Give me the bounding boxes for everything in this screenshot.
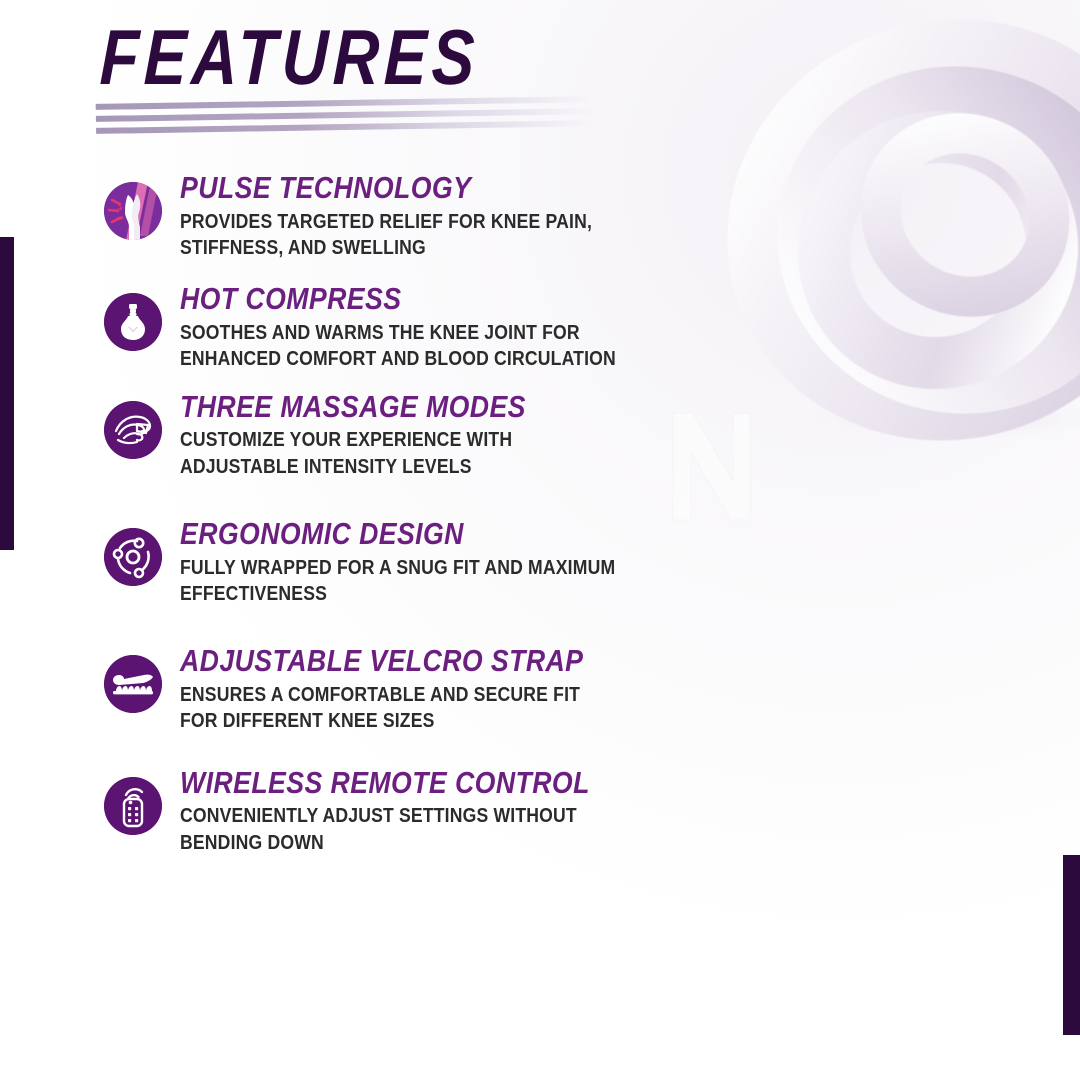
page-title: FEATURES	[99, 18, 560, 96]
feature-item: THREE MASSAGE MODES CUSTOMIZE YOUR EXPER…	[104, 389, 724, 480]
feature-list: PULSE TECHNOLOGY PROVIDES TARGETED RELIE…	[104, 170, 724, 856]
torus-decoration-graphic	[720, 10, 1080, 480]
feature-text: ERGONOMIC DESIGN FULLY WRAPPED FOR A SNU…	[180, 516, 724, 607]
feature-title: WIRELESS REMOTE CONTROL	[180, 767, 648, 800]
ergonomic-orbit-icon	[104, 528, 162, 586]
feature-title: PULSE TECHNOLOGY	[180, 172, 648, 205]
feature-description: SOOTHES AND WARMS THE KNEE JOINT FOR ENH…	[180, 320, 620, 373]
left-accent-bar	[0, 237, 14, 550]
feature-item: ERGONOMIC DESIGN FULLY WRAPPED FOR A SNU…	[104, 516, 724, 607]
feature-item: WIRELESS REMOTE CONTROL CONVENIENTLY ADJ…	[104, 765, 724, 856]
hot-water-bottle-icon	[104, 293, 162, 351]
rule-line-3	[96, 120, 596, 134]
knee-joint-icon	[104, 182, 162, 240]
feature-item: ADJUSTABLE VELCRO STRAP ENSURES A COMFOR…	[104, 643, 724, 734]
feature-title: ADJUSTABLE VELCRO STRAP	[180, 645, 648, 678]
velcro-strap-icon	[104, 655, 162, 713]
feature-item: HOT COMPRESS SOOTHES AND WARMS THE KNEE …	[104, 281, 724, 372]
feature-title: THREE MASSAGE MODES	[180, 391, 648, 424]
right-accent-bar	[1063, 855, 1080, 1035]
feature-description: CUSTOMIZE YOUR EXPERIENCE WITH ADJUSTABL…	[180, 427, 620, 480]
feature-title: HOT COMPRESS	[180, 283, 648, 316]
feature-text: PULSE TECHNOLOGY PROVIDES TARGETED RELIE…	[180, 170, 724, 261]
title-underline-rules	[96, 96, 597, 150]
feature-title: ERGONOMIC DESIGN	[180, 518, 648, 551]
rule-line-2	[96, 108, 596, 122]
feature-description: PROVIDES TARGETED RELIEF FOR KNEE PAIN, …	[180, 209, 620, 262]
header: FEATURES	[100, 18, 660, 96]
feature-description: ENSURES A COMFORTABLE AND SECURE FIT FOR…	[180, 682, 620, 735]
feature-poster: FEATURES	[0, 0, 1080, 1080]
feature-text: WIRELESS REMOTE CONTROL CONVENIENTLY ADJ…	[180, 765, 724, 856]
wireless-remote-icon	[104, 777, 162, 835]
feature-text: HOT COMPRESS SOOTHES AND WARMS THE KNEE …	[180, 281, 724, 372]
feature-text: THREE MASSAGE MODES CUSTOMIZE YOUR EXPER…	[180, 389, 724, 480]
massage-hand-icon	[104, 401, 162, 459]
feature-description: FULLY WRAPPED FOR A SNUG FIT AND MAXIMUM…	[180, 555, 620, 608]
feature-item: PULSE TECHNOLOGY PROVIDES TARGETED RELIE…	[104, 170, 724, 261]
feature-description: CONVENIENTLY ADJUST SETTINGS WITHOUT BEN…	[180, 803, 620, 856]
feature-text: ADJUSTABLE VELCRO STRAP ENSURES A COMFOR…	[180, 643, 724, 734]
